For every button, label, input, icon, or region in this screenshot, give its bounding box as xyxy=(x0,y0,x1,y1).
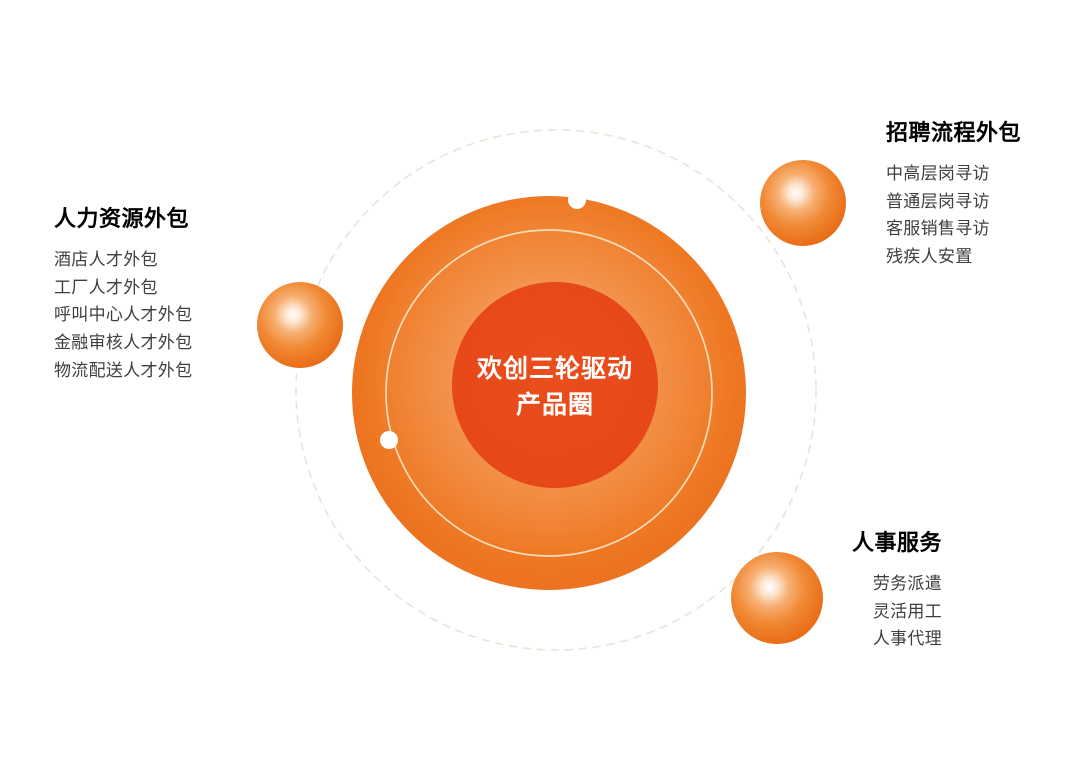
list-item: 客服销售寻访 xyxy=(886,215,1021,243)
group-title-recruitment-process-outsourcing: 招聘流程外包 xyxy=(886,120,1021,146)
list-item: 中高层岗寻访 xyxy=(886,160,1021,188)
list-item: 酒店人才外包 xyxy=(54,246,192,274)
sphere-hr-outsourcing[interactable] xyxy=(257,282,343,368)
group-list-recruitment-process-outsourcing: 中高层岗寻访 普通层岗寻访 客服销售寻访 残疾人安置 xyxy=(886,160,1021,270)
list-item: 灵活用工 xyxy=(852,598,942,626)
list-item: 人事代理 xyxy=(852,625,942,653)
diagram-canvas: 欢创三轮驱动 产品圈 人力资源外包 酒店人才外包 工厂人才外包 呼叫中心人才外包… xyxy=(0,0,1080,764)
list-item: 金融审核人才外包 xyxy=(54,329,192,357)
list-item: 劳务派遣 xyxy=(852,570,942,598)
group-recruitment-process-outsourcing: 招聘流程外包 中高层岗寻访 普通层岗寻访 客服销售寻访 残疾人安置 xyxy=(886,120,1021,271)
group-title-hr-outsourcing: 人力资源外包 xyxy=(54,206,192,232)
group-list-hr-outsourcing: 酒店人才外包 工厂人才外包 呼叫中心人才外包 金融审核人才外包 物流配送人才外包 xyxy=(54,246,192,384)
group-personnel-services: 人事服务 劳务派遣 灵活用工 人事代理 xyxy=(852,530,942,653)
list-item: 物流配送人才外包 xyxy=(54,357,192,385)
list-item: 呼叫中心人才外包 xyxy=(54,301,192,329)
list-item: 残疾人安置 xyxy=(886,243,1021,271)
sphere-personnel-services[interactable] xyxy=(731,552,823,644)
core-circle xyxy=(452,282,658,488)
node-dot-top[interactable] xyxy=(568,191,586,209)
list-item: 普通层岗寻访 xyxy=(886,188,1021,216)
node-dot-left[interactable] xyxy=(380,431,398,449)
node-dot-bottom-right[interactable] xyxy=(704,511,722,529)
list-item: 工厂人才外包 xyxy=(54,274,192,302)
group-title-personnel-services: 人事服务 xyxy=(852,530,942,556)
sphere-recruitment-process-outsourcing[interactable] xyxy=(760,160,846,246)
group-list-personnel-services: 劳务派遣 灵活用工 人事代理 xyxy=(852,570,942,653)
group-hr-outsourcing: 人力资源外包 酒店人才外包 工厂人才外包 呼叫中心人才外包 金融审核人才外包 物… xyxy=(54,206,192,384)
